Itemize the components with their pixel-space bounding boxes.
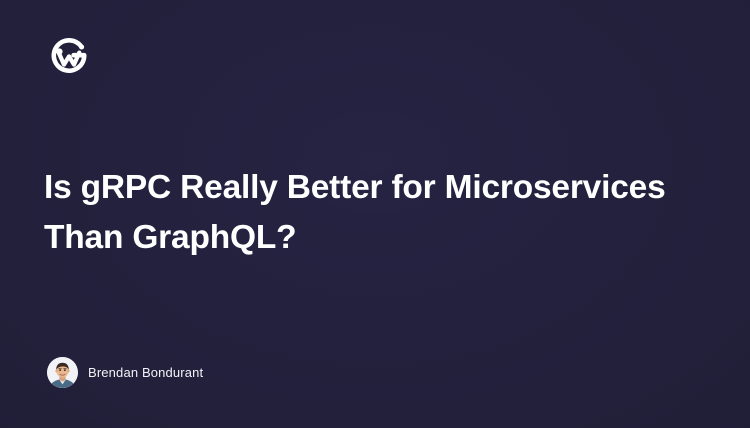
circular-g-w-monogram-icon	[46, 34, 92, 80]
author-byline: Brendan Bondurant	[47, 357, 203, 388]
page-title: Is gRPC Really Better for Microservices …	[44, 163, 716, 263]
author-headshot-avatar	[47, 357, 78, 388]
avatar	[47, 357, 78, 388]
author-name: Brendan Bondurant	[88, 365, 203, 380]
title-slide: Is gRPC Really Better for Microservices …	[0, 0, 750, 428]
brand-logo[interactable]	[46, 34, 92, 80]
